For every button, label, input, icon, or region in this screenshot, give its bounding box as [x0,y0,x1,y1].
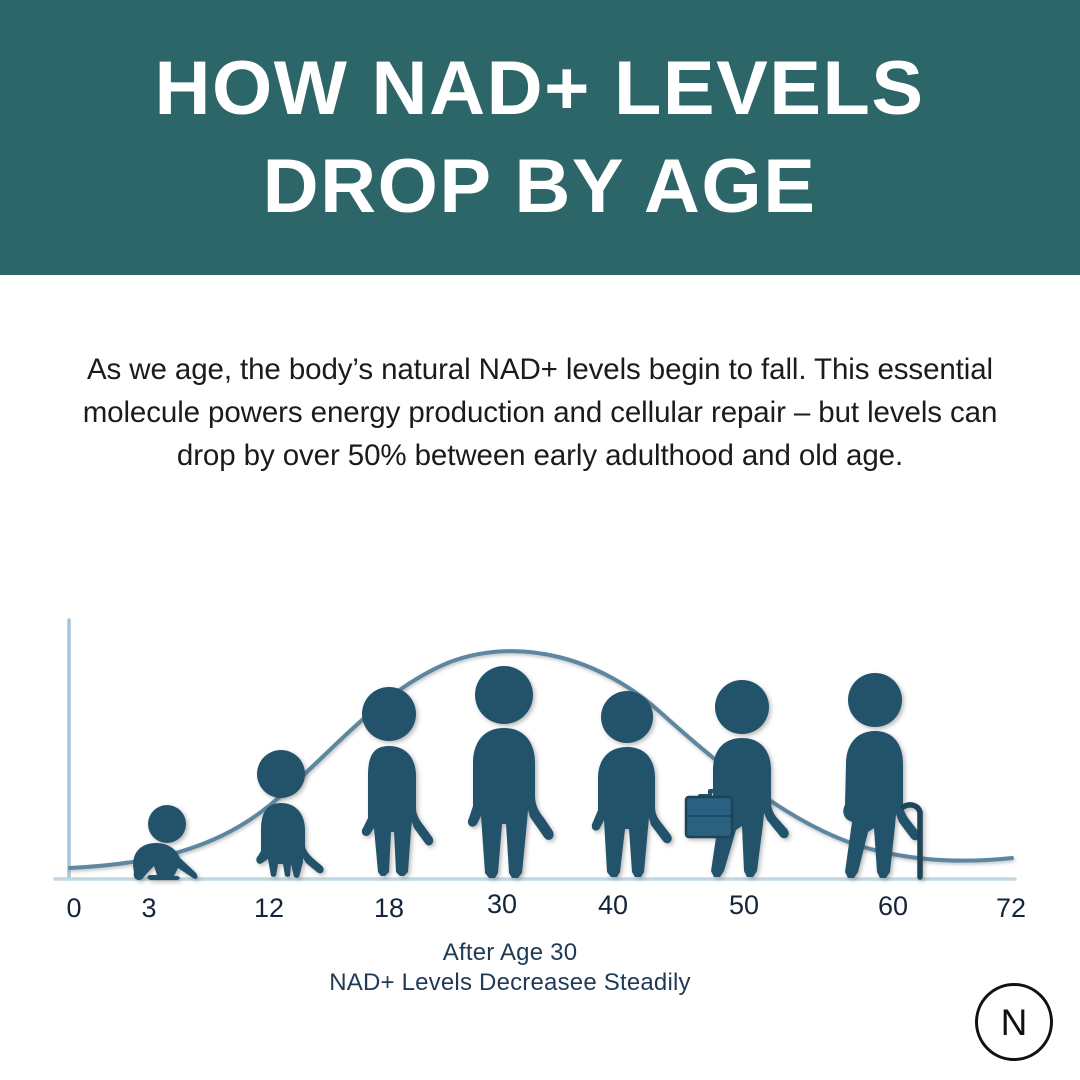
briefcase-icon [686,791,732,837]
logo-letter-n: N [1001,1004,1028,1041]
page-title-line-1: HOW NAD+ LEVELS [155,40,925,137]
caption-line-2: NAD+ Levels Decreasee Steadily [0,968,1020,998]
x-tick-30: 30 [487,889,517,919]
figure-teen [362,687,433,876]
figure-businessman [686,680,789,877]
figure-elderly-with-cane [843,673,920,878]
caption-line-1: After Age 30 [0,938,1020,968]
x-tick-72: 72 [996,893,1026,923]
x-axis-tick-labels: 0 3 12 18 30 40 50 60 72 [66,889,1026,923]
x-tick-50: 50 [729,890,759,920]
page-title-line-2: DROP BY AGE [263,138,817,235]
chart-svg: 0 3 12 18 30 40 50 60 72 [0,600,1080,945]
x-tick-60: 60 [878,891,908,921]
x-tick-18: 18 [374,893,404,923]
x-tick-3: 3 [141,893,156,923]
x-tick-40: 40 [598,890,628,920]
figure-crawling-baby [133,805,197,880]
figure-adult-walking [592,691,672,877]
figure-adult [468,666,554,878]
chart-caption: After Age 30 NAD+ Levels Decreasee Stead… [0,938,1020,998]
x-tick-0: 0 [66,893,81,923]
intro-paragraph: As we age, the body’s natural NAD+ level… [75,348,1005,477]
infographic-page: HOW NAD+ LEVELS DROP BY AGE As we age, t… [0,0,1080,1080]
header-banner: HOW NAD+ LEVELS DROP BY AGE [0,0,1080,275]
x-tick-12: 12 [254,893,284,923]
figure-toddler [256,750,323,878]
brand-logo: N [975,983,1053,1061]
nad-levels-chart: 0 3 12 18 30 40 50 60 72 [0,600,1080,945]
